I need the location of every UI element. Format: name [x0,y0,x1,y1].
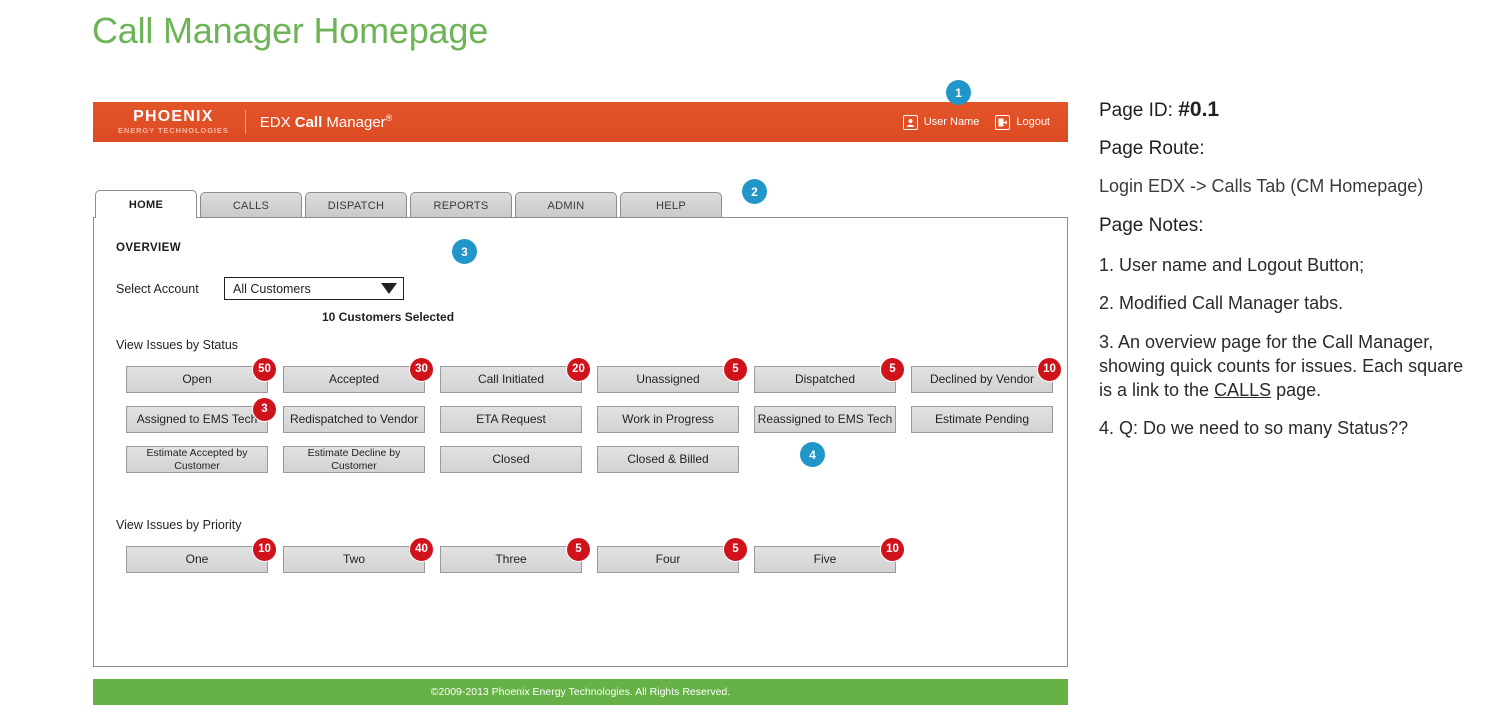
notes-panel: Page ID: #0.1 Page Route: Login EDX -> C… [1099,98,1479,455]
page-route-label: Page Route: [1099,138,1479,160]
priority-button[interactable]: Five10 [754,546,896,573]
count-badge: 5 [723,537,748,562]
status-button-label: Assigned to EMS Tech [137,413,258,426]
status-button[interactable]: Accepted30 [283,366,425,393]
page-title: Call Manager Homepage [92,10,488,52]
tab-reports[interactable]: REPORTS [410,192,512,218]
app-name-suffix: Manager [322,114,385,131]
tab-calls[interactable]: CALLS [200,192,302,218]
logout-icon [995,115,1010,130]
user-icon [903,115,918,130]
content-panel: OVERVIEW Select Account All Customers 10… [93,217,1068,667]
main-tabs: HOMECALLSDISPATCHREPORTSADMINHELP [93,190,1068,218]
note-item: 3. An overview page for the Call Manager… [1099,330,1479,403]
count-badge: 3 [252,397,277,422]
status-button[interactable]: Estimate Decline by Customer [283,446,425,473]
tab-home[interactable]: HOME [95,190,197,218]
count-badge: 10 [252,537,277,562]
status-button[interactable]: Reassigned to EMS Tech [754,406,896,433]
calls-page-link[interactable]: CALLS [1214,380,1271,400]
logo-primary-text: PHOENIX [133,109,213,125]
status-button-label: Declined by Vendor [930,373,1034,386]
status-row: Estimate Accepted by CustomerEstimate De… [126,446,1068,473]
status-button-label: Redispatched to Vendor [290,413,418,426]
status-button-grid: Open50Accepted30Call Initiated20Unassign… [126,366,1068,473]
status-button-label: Open [182,373,211,386]
overview-heading: OVERVIEW [116,242,181,254]
status-button[interactable]: Estimate Pending [911,406,1053,433]
priority-button-label: Three [495,553,526,566]
page-id-line: Page ID: #0.1 [1099,98,1479,122]
status-button[interactable]: Redispatched to Vendor [283,406,425,433]
page-id-label: Page ID: [1099,100,1178,121]
count-badge: 40 [409,537,434,562]
app-name-prefix: EDX [260,114,295,131]
status-button[interactable]: Declined by Vendor10 [911,366,1053,393]
priority-button-label: Five [814,553,837,566]
priority-button-label: One [186,553,209,566]
priority-row: One10Two40Three5Four5Five10 [126,546,911,573]
status-button-label: Call Initiated [478,373,544,386]
page-id-value: #0.1 [1178,98,1219,121]
status-button[interactable]: Open50 [126,366,268,393]
status-section-label: View Issues by Status [116,338,238,352]
count-badge: 20 [566,357,591,382]
count-badge: 10 [880,537,905,562]
priority-button[interactable]: Three5 [440,546,582,573]
count-badge: 30 [409,357,434,382]
priority-button[interactable]: Two40 [283,546,425,573]
priority-button[interactable]: One10 [126,546,268,573]
priority-button-grid: One10Two40Three5Four5Five10 [126,546,911,573]
priority-button[interactable]: Four5 [597,546,739,573]
status-button[interactable]: Work in Progress [597,406,739,433]
app-header-bar: PHOENIX ENERGY TECHNOLOGIES EDX Call Man… [93,102,1068,142]
count-badge: 5 [880,357,905,382]
logout-label: Logout [1016,116,1050,128]
status-button-label: Closed [492,453,529,466]
page-notes-label: Page Notes: [1099,215,1479,237]
annotation-marker-4: 4 [800,442,825,467]
status-button[interactable]: Closed & Billed [597,446,739,473]
status-button[interactable]: Assigned to EMS Tech3 [126,406,268,433]
note-item: 2. Modified Call Manager tabs. [1099,291,1479,315]
status-button-label: Estimate Decline by Customer [284,447,424,471]
app-name-text: EDX Call Manager® [260,113,393,131]
count-badge: 50 [252,357,277,382]
brand-divider [245,110,246,134]
app-name-bold: Call [295,114,323,131]
tab-admin[interactable]: ADMIN [515,192,617,218]
count-badge: 5 [723,357,748,382]
status-button-label: Reassigned to EMS Tech [758,413,893,426]
page-route-value: Login EDX -> Calls Tab (CM Homepage) [1099,176,1479,197]
status-button-label: Estimate Accepted by Customer [127,447,267,471]
status-button-label: Work in Progress [622,413,714,426]
annotation-marker-1: 1 [946,80,971,105]
note-item: 4. Q: Do we need to so many Status?? [1099,416,1479,440]
count-badge: 5 [566,537,591,562]
brand-logo: PHOENIX ENERGY TECHNOLOGIES EDX Call Man… [118,109,392,135]
status-button[interactable]: ETA Request [440,406,582,433]
status-button-label: Accepted [329,373,379,386]
note-text-tail: page. [1271,380,1321,400]
select-account-label: Select Account [116,282,224,296]
notes-list: 1. User name and Logout Button;2. Modifi… [1099,253,1479,441]
registered-mark: ® [386,113,393,123]
annotation-marker-3: 3 [452,239,477,264]
chevron-down-icon [381,283,397,294]
status-row: Assigned to EMS Tech3Redispatched to Ven… [126,406,1068,433]
select-account-dropdown[interactable]: All Customers [224,277,404,300]
account-selector-row: Select Account All Customers [116,277,404,300]
status-button-label: Closed & Billed [627,453,708,466]
status-button-label: Unassigned [636,373,699,386]
priority-button-label: Two [343,553,365,566]
status-button-label: Estimate Pending [935,413,1029,426]
count-badge: 10 [1037,357,1062,382]
phoenix-logo: PHOENIX ENERGY TECHNOLOGIES [118,109,229,135]
select-account-value: All Customers [233,282,311,296]
logout-button[interactable]: Logout [995,115,1050,130]
status-button-label: Dispatched [795,373,855,386]
priority-button-label: Four [656,553,681,566]
priority-section-label: View Issues by Priority [116,518,242,532]
logo-secondary-text: ENERGY TECHNOLOGIES [118,127,229,135]
user-name-button[interactable]: User Name [903,115,980,130]
status-row: Open50Accepted30Call Initiated20Unassign… [126,366,1068,393]
app-mockup: PHOENIX ENERGY TECHNOLOGIES EDX Call Man… [93,102,1068,705]
header-actions: User Name Logout [903,115,1050,130]
status-button[interactable]: Call Initiated20 [440,366,582,393]
tab-help[interactable]: HELP [620,192,722,218]
user-name-label: User Name [924,116,980,128]
status-button-label: ETA Request [476,413,546,426]
note-item: 1. User name and Logout Button; [1099,253,1479,277]
app-footer: ©2009-2013 Phoenix Energy Technologies. … [93,679,1068,705]
status-button[interactable]: Dispatched5 [754,366,896,393]
tab-dispatch[interactable]: DISPATCH [305,192,407,218]
status-button[interactable]: Unassigned5 [597,366,739,393]
annotation-marker-2: 2 [742,179,767,204]
customers-selected-text: 10 Customers Selected [322,310,454,324]
status-button[interactable]: Closed [440,446,582,473]
status-button[interactable]: Estimate Accepted by Customer [126,446,268,473]
